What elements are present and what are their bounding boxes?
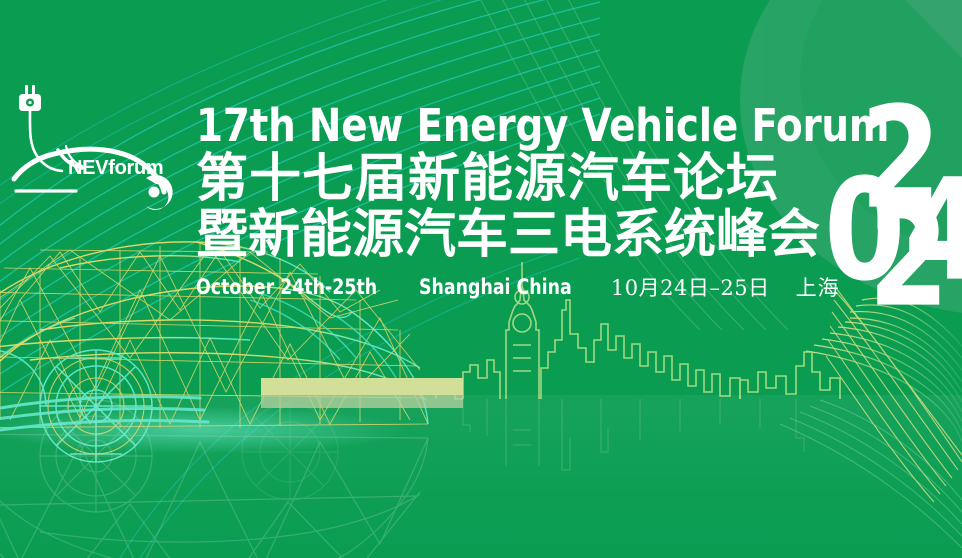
logo-graphic (6, 78, 182, 213)
logo-wordmark-forum: forum (108, 157, 163, 179)
power-plug-icon (19, 85, 41, 111)
water-reflection-band (0, 395, 962, 558)
event-poster: NEVforum 17th New Energy Vehicle Forum 第… (0, 0, 962, 558)
platform-bar-reflection (261, 395, 463, 408)
meta-date-en: October 24th-25th (196, 275, 377, 299)
year-2024: 2 0 2 4 (838, 104, 956, 312)
nevforum-logo[interactable]: NEVforum (6, 78, 182, 213)
platform-bar (261, 378, 463, 395)
event-meta-line: October 24th-25th Shanghai China 10月24日–… (196, 272, 836, 302)
decor-corner-wedge (905, 0, 962, 58)
logo-wordmark: NEVforum (68, 157, 163, 180)
meta-location-en: Shanghai China (419, 275, 572, 299)
english-title: 17th New Energy Vehicle Forum (196, 101, 810, 151)
wheel-icon (146, 175, 173, 210)
chinese-title-line2: 暨新能源汽车三电系统峰会 (196, 207, 836, 263)
title-block: 17th New Energy Vehicle Forum 第十七届新能源汽车论… (196, 101, 836, 302)
meta-date-cn: 10月24日–25日 (611, 272, 770, 302)
logo-wordmark-nev: NEV (68, 157, 108, 179)
chinese-title-line1: 第十七届新能源汽车论坛 (196, 151, 836, 207)
year-digit-4: 4 (904, 176, 962, 284)
